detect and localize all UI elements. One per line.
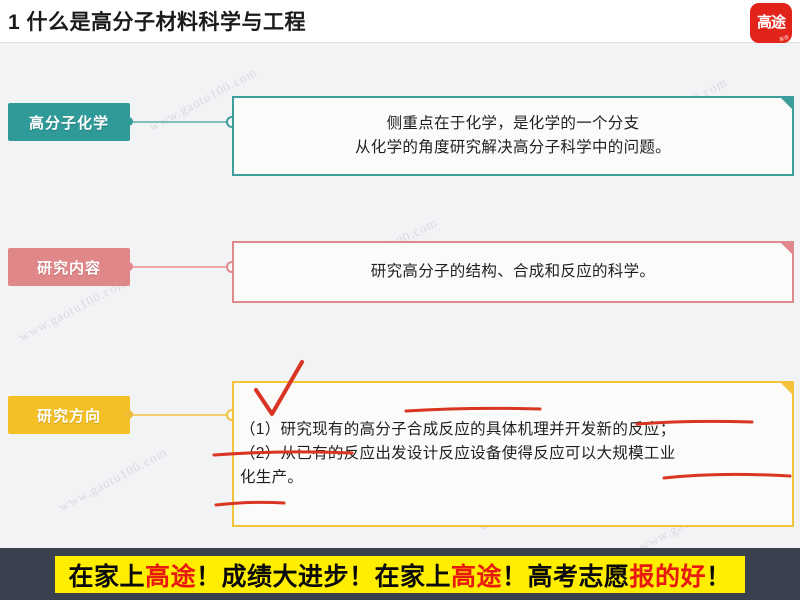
promo-segment-4: ！高考志愿 xyxy=(502,557,630,593)
tag-polymer-chemistry[interactable]: 高分子化学 xyxy=(8,103,130,141)
corner-triangle-icon xyxy=(781,98,792,109)
gaotu-logo: 高途 高途 xyxy=(750,3,792,43)
promo-segment-0: 在家上 xyxy=(68,557,145,593)
panel-line: 从化学的角度研究解决高分子科学中的问题。 xyxy=(234,136,792,160)
promo-segment-2: ！成绩大进步！在家上 xyxy=(196,557,451,593)
panel-research-direction: （1）研究现有的高分子合成反应的具体机理并开发新的反应； （2）从已有的反应出发… xyxy=(232,381,794,527)
promo-text-band: 在家上高途！成绩大进步！在家上高途！高考志愿报的好！ xyxy=(55,556,745,593)
promo-segment-5: 报的好 xyxy=(630,557,707,593)
tag-research-direction[interactable]: 研究方向 xyxy=(8,396,130,434)
panel-line: 化生产。 xyxy=(240,466,786,490)
page-title: 1 什么是高分子材料科学与工程 xyxy=(8,6,306,36)
connector-line-row2 xyxy=(128,266,238,268)
connector-dot-tag-row3 xyxy=(124,410,133,419)
corner-triangle-icon xyxy=(781,243,792,254)
slide-header: 1 什么是高分子材料科学与工程 高途 高途 xyxy=(0,0,800,42)
panel-line: 侧重点在于化学，是化学的一个分支 xyxy=(234,112,792,136)
panel-line: （2）从已有的反应出发设计反应设备使得反应可以大规模工业 xyxy=(240,442,786,466)
panel-research-content: 研究高分子的结构、合成和反应的科学。 xyxy=(232,241,794,303)
slide-canvas: www.gaotu100.com www.gaotu100.com www.ga… xyxy=(0,0,800,600)
watermark-text: www.gaotu100.com xyxy=(56,444,170,515)
connector-dot-tag-row1 xyxy=(124,117,133,126)
panel-line: 研究高分子的结构、合成和反应的科学。 xyxy=(234,260,792,284)
connector-line-row3 xyxy=(128,414,238,416)
promo-segment-1: 高途 xyxy=(145,557,196,593)
panel-polymer-chemistry: 侧重点在于化学，是化学的一个分支 从化学的角度研究解决高分子科学中的问题。 xyxy=(232,96,794,176)
connector-dot-tag-row2 xyxy=(124,262,133,271)
panel-line: （1）研究现有的高分子合成反应的具体机理并开发新的反应； xyxy=(240,418,786,442)
connector-line-row1 xyxy=(128,121,238,123)
promo-segment-3: 高途 xyxy=(451,557,502,593)
footer-banner: 在家上高途！成绩大进步！在家上高途！高考志愿报的好！ xyxy=(0,548,800,600)
corner-triangle-icon xyxy=(781,383,792,394)
tag-research-content[interactable]: 研究内容 xyxy=(8,248,130,286)
promo-segment-6: ！ xyxy=(706,557,732,593)
